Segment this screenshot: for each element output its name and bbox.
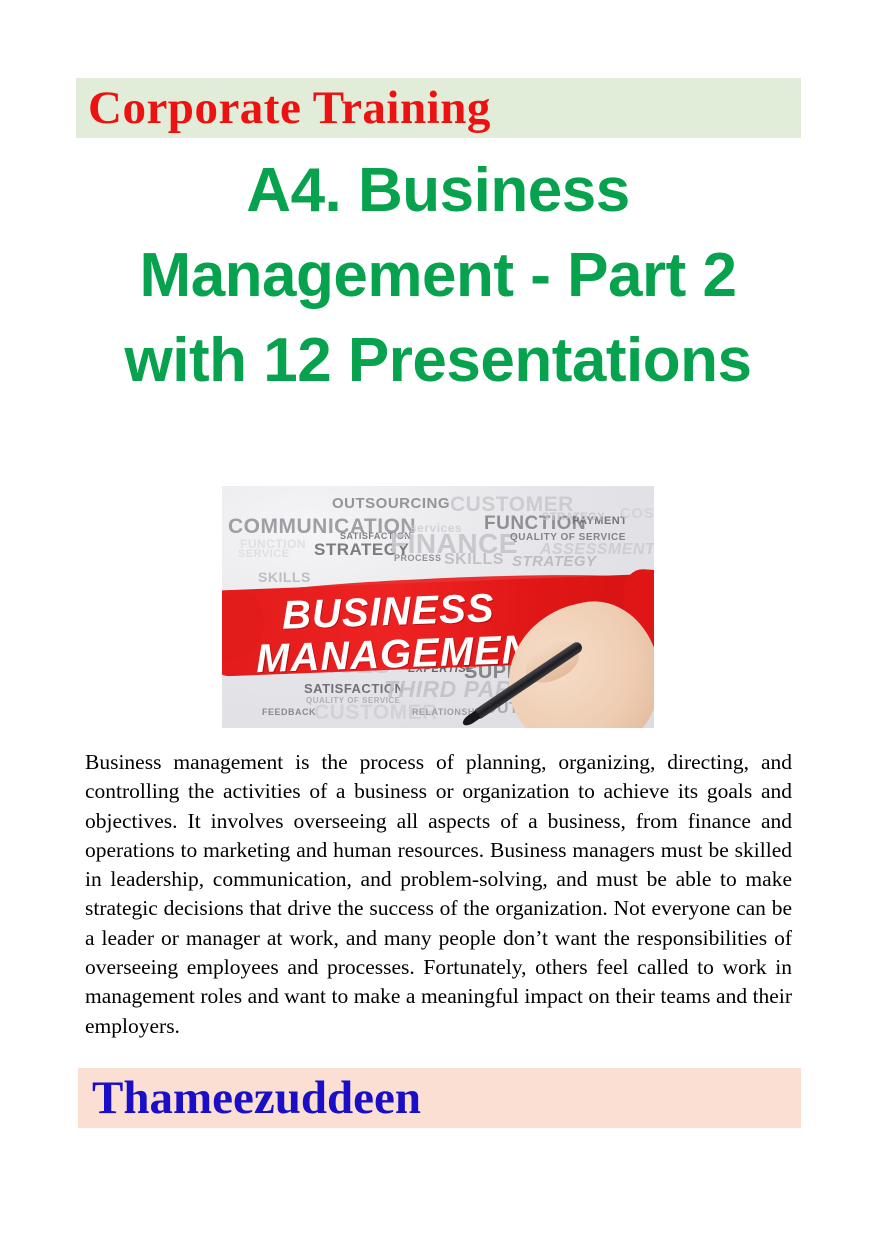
header-title: Corporate Training	[88, 85, 491, 132]
cover-image-word: COST	[620, 506, 654, 521]
page-title: A4. Business Management - Part 2 with 12…	[80, 148, 796, 403]
cover-image-word: OUTSOURCING	[332, 496, 450, 511]
cover-image-word: STRATEGY	[542, 512, 605, 523]
cover-image-word: PROCESS	[394, 554, 442, 563]
cover-image-word: SKILLS	[258, 570, 311, 584]
cover-image-word: FEEDBACK	[262, 708, 316, 717]
header-banner: Corporate Training	[76, 78, 801, 138]
cover-image-word: STRATEGY	[512, 554, 597, 569]
cover-image-word: SERVICE	[238, 549, 290, 560]
body-paragraph: Business management is the process of pl…	[85, 748, 792, 1041]
cover-image: OUTSOURCINGCUSTOMERCOMMUNICATIONservices…	[222, 486, 654, 728]
document-page: Corporate Training A4. Business Manageme…	[0, 0, 874, 1241]
author-banner: Thameezuddeen	[78, 1068, 801, 1128]
cover-image-word: SKILLS	[444, 552, 504, 568]
author-name: Thameezuddeen	[92, 1075, 421, 1122]
